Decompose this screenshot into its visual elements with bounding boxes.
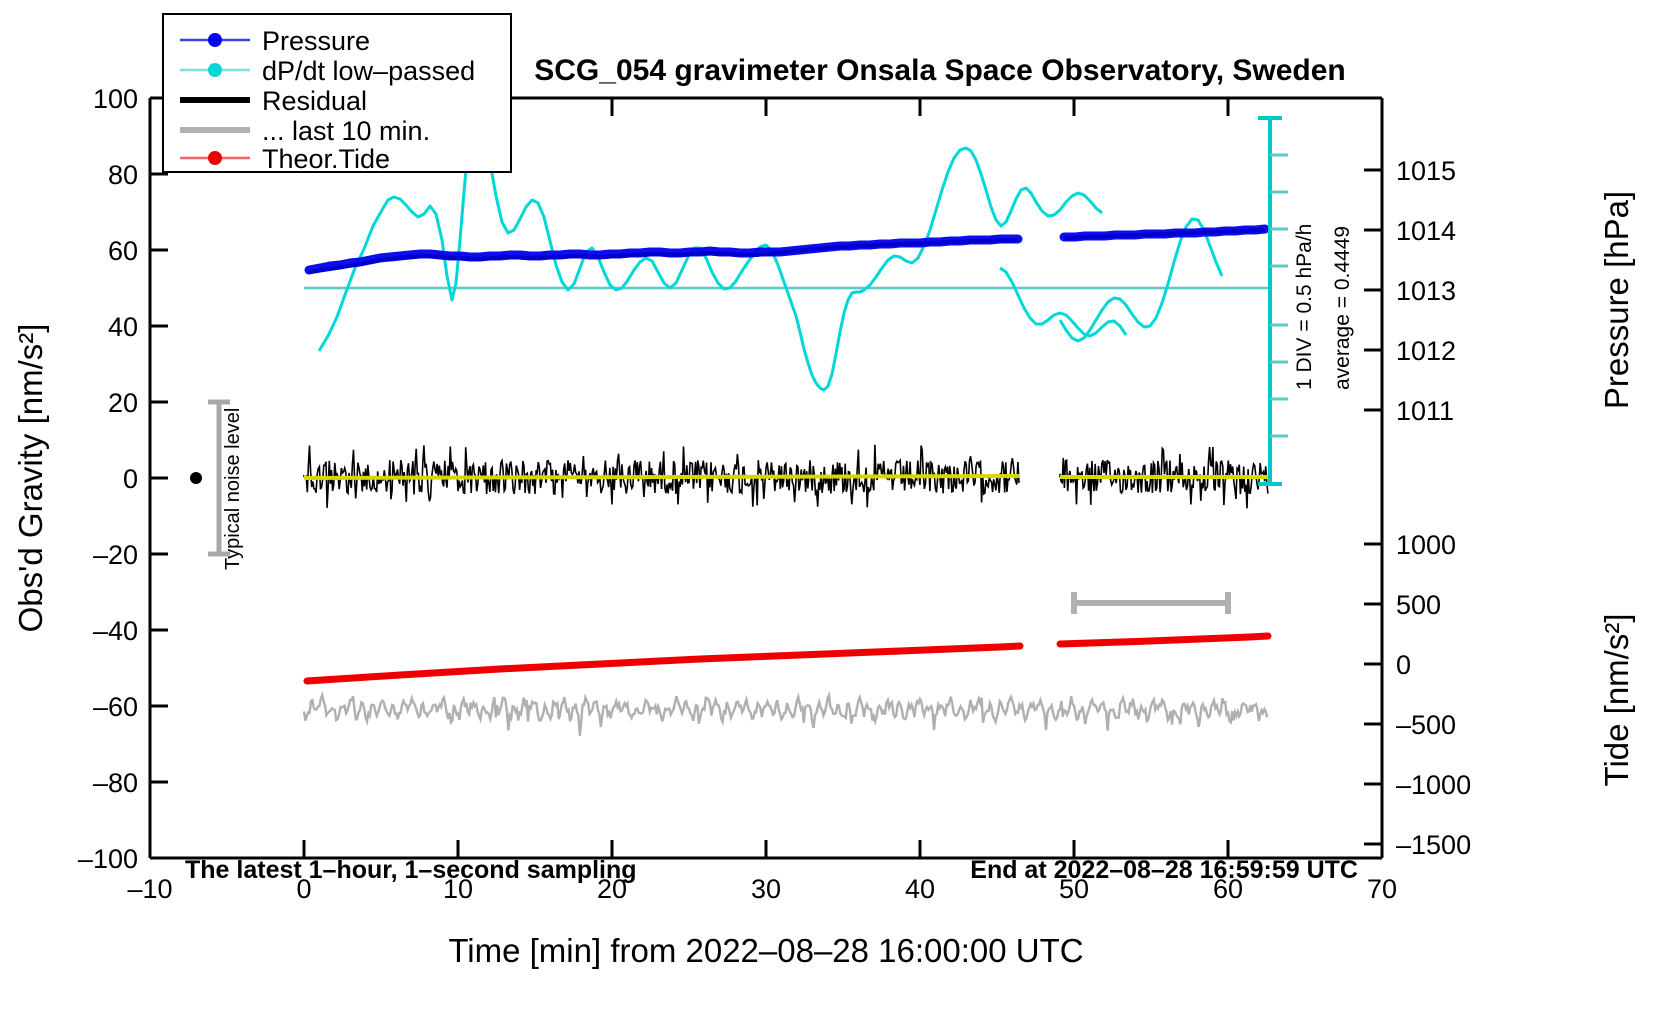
y-right-pressure-tick-0: 1015 [1396, 156, 1456, 186]
y-left-tick-1: 80 [108, 160, 138, 190]
bottom-right-annotation: End at 2022–08–28 16:59:59 UTC [970, 856, 1358, 884]
page-title: SCG_054 gravimeter Onsala Space Observat… [534, 54, 1346, 87]
legend-marker-theortide [208, 151, 222, 165]
y-left-tick-4: 20 [108, 388, 138, 418]
y-right-tide-tick-5: –1500 [1396, 830, 1471, 860]
legend-label-last10min: ... last 10 min. [262, 116, 430, 146]
gravimeter-chart: 100 80 60 40 20 0 –20 –40 –60 –80 –100 O… [0, 0, 1660, 1020]
noise-center-dot [190, 472, 202, 484]
legend-label-dpdt: dP/dt low–passed [262, 56, 475, 86]
y-right-pressure-tick-1: 1014 [1396, 216, 1456, 246]
x-tick-0: –10 [127, 874, 172, 904]
x-tick-8: 70 [1367, 874, 1397, 904]
x-tick-4: 30 [751, 874, 781, 904]
y-right-tide-tick-2: 0 [1396, 650, 1411, 680]
y-right-tide-tick-1: 500 [1396, 590, 1441, 620]
y-right-pressure-tick-4: 1011 [1396, 396, 1454, 426]
legend-label-pressure: Pressure [262, 26, 370, 56]
residual-smoothed-line-1 [304, 476, 1020, 478]
y-right-tide-axis-title: Tide [nm/s²] [1598, 614, 1635, 787]
legend: Pressure dP/dt low–passed Residual ... l… [163, 14, 511, 174]
legend-label-residual: Residual [262, 86, 367, 116]
y-right-tide-tick-3: –500 [1396, 710, 1456, 740]
x-axis-title: Time [min] from 2022–08–28 16:00:00 UTC [448, 932, 1083, 969]
y-right-pressure-tick-2: 1013 [1396, 276, 1456, 306]
y-left-tick-3: 40 [108, 312, 138, 342]
y-left-tick-10: –100 [78, 844, 138, 874]
legend-marker-pressure [208, 33, 222, 47]
typical-noise-level-label: Typical noise level [222, 408, 244, 570]
y-left-tick-0: 100 [93, 84, 138, 114]
y-left-tick-2: 60 [108, 236, 138, 266]
legend-marker-dpdt [208, 63, 222, 77]
chart-page: 100 80 60 40 20 0 –20 –40 –60 –80 –100 O… [0, 0, 1660, 1020]
y-left-tick-9: –80 [93, 768, 138, 798]
y-right-tide-tick-4: –1000 [1396, 770, 1471, 800]
dpdt-average-label: average = 0.4449 [1331, 226, 1354, 390]
x-tick-5: 40 [905, 874, 935, 904]
bottom-left-annotation: The latest 1–hour, 1–second sampling [185, 856, 637, 884]
y-left-axis-title: Obs'd Gravity [nm/s²] [12, 324, 49, 633]
y-left-tick-7: –40 [93, 616, 138, 646]
dpdt-div-scale-label: 1 DIV = 0.5 hPa/h [1293, 224, 1316, 390]
y-left-tick-5: 0 [123, 464, 138, 494]
y-right-pressure-axis-title: Pressure [hPa] [1598, 191, 1635, 409]
y-right-tide-tick-0: 1000 [1396, 530, 1456, 560]
y-right-pressure-tick-3: 1012 [1396, 336, 1456, 366]
y-left-tick-6: –20 [93, 540, 138, 570]
legend-label-theortide: Theor.Tide [262, 144, 390, 174]
y-left-tick-8: –60 [93, 692, 138, 722]
